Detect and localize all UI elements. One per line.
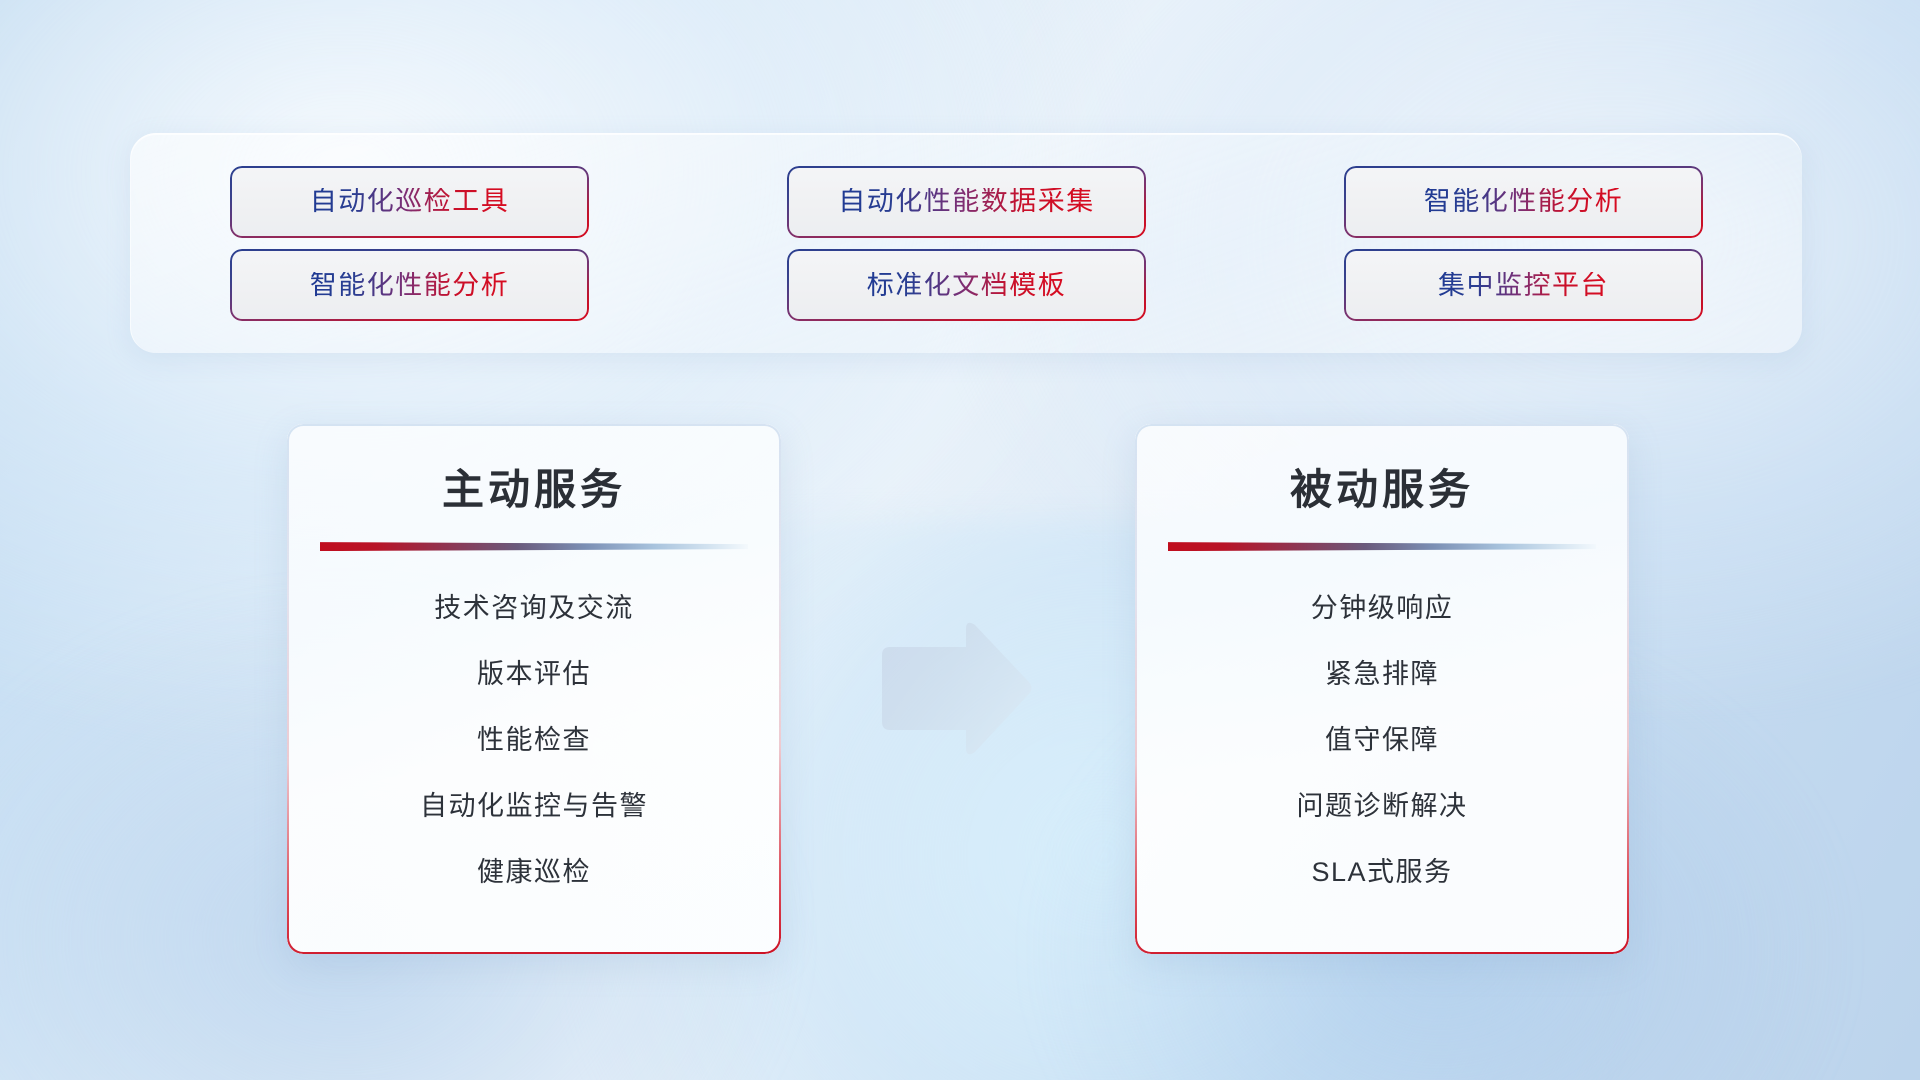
tag-pill-6[interactable]: 集中监控平台: [1344, 249, 1703, 321]
service-item-list: 技术咨询及交流 版本评估 性能检查 自动化监控与告警 健康巡检: [287, 551, 781, 886]
tag-pill-1[interactable]: 自动化巡检工具: [230, 166, 589, 238]
list-item: 性能检查: [477, 727, 591, 754]
list-item: 分钟级响应: [1311, 595, 1454, 622]
tag-pill-label: 标准化文档模板: [867, 272, 1067, 299]
list-item: 版本评估: [477, 661, 591, 688]
tag-pill-label: 自动化性能数据采集: [838, 188, 1095, 215]
list-item: SLA式服务: [1311, 859, 1452, 886]
tag-pill-4[interactable]: 智能化性能分析: [230, 249, 589, 321]
list-item: 紧急排障: [1325, 661, 1439, 688]
list-item: 自动化监控与告警: [420, 793, 648, 820]
tag-pill-label: 智能化性能分析: [1424, 188, 1624, 215]
service-card-title: 主动服务: [287, 424, 781, 512]
title-divider-bar: [320, 542, 748, 551]
title-divider: [1168, 542, 1596, 551]
tag-pill-3[interactable]: 智能化性能分析: [1344, 166, 1703, 238]
tag-pill-2[interactable]: 自动化性能数据采集: [787, 166, 1146, 238]
service-card-reactive: 被动服务 分钟级响应 紧急排障 值守保障 问题诊断解决 SLA式服务: [1135, 424, 1629, 954]
capability-tag-panel: 自动化巡检工具 自动化性能数据采集 智能化性能分析 智能化性能分析 标准化文档模…: [130, 133, 1802, 353]
arrow-right-icon: [874, 615, 1037, 765]
tag-pill-label: 集中监控平台: [1438, 272, 1609, 299]
tag-pill-label: 自动化巡检工具: [310, 188, 510, 215]
tag-pill-label: 智能化性能分析: [310, 272, 510, 299]
list-item: 问题诊断解决: [1297, 793, 1468, 820]
list-item: 健康巡检: [477, 859, 591, 886]
title-divider-bar: [1168, 542, 1596, 551]
title-divider: [320, 542, 748, 551]
service-card-title: 被动服务: [1135, 424, 1629, 512]
tag-pill-5[interactable]: 标准化文档模板: [787, 249, 1146, 321]
list-item: 技术咨询及交流: [434, 595, 634, 622]
service-card-proactive: 主动服务 技术咨询及交流 版本评估 性能检查 自动化监控与告警 健康巡检: [287, 424, 781, 954]
service-item-list: 分钟级响应 紧急排障 值守保障 问题诊断解决 SLA式服务: [1135, 551, 1629, 886]
list-item: 值守保障: [1325, 727, 1439, 754]
